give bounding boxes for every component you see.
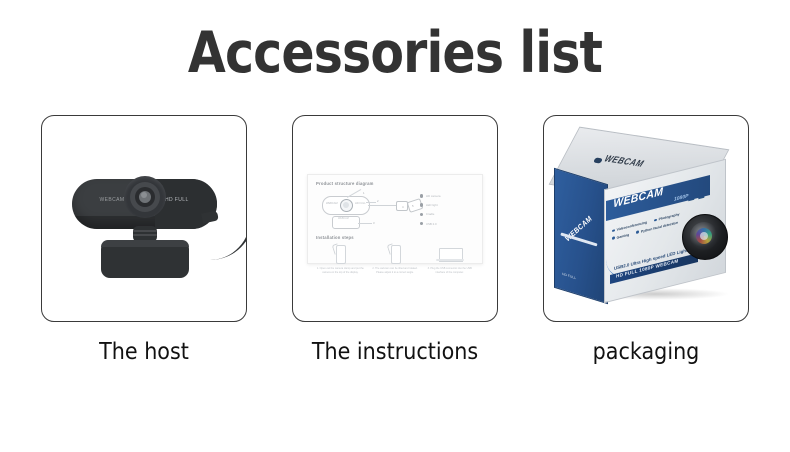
callout-number: 3: [373, 221, 375, 225]
legend-label: USB 2.0: [426, 222, 437, 226]
caption-packaging: packaging: [553, 336, 738, 368]
step-caption: 3. Plug the USB connector into the USB i…: [425, 267, 474, 274]
diagram-label-base: WEBCAM: [338, 217, 349, 220]
callout-leader: [366, 202, 376, 203]
webcam-hinge-rib: [133, 234, 157, 236]
instruction-sheet: Product structure diagram WEBCAM HD FULL…: [307, 174, 483, 264]
webcam-usb-cable: [210, 216, 247, 260]
bullet-icon: [420, 203, 423, 206]
legend-label: LED light: [426, 203, 438, 207]
step-caption: 1. Open out the camera clamp and put the…: [316, 267, 365, 274]
card-packaging[interactable]: WEBCAM WEBCAM HD FULL WEBCAM 1080P Video…: [543, 115, 749, 322]
webcam-lens-highlight: [141, 192, 147, 198]
caption-instructions: The instructions: [302, 336, 487, 368]
webcam-base-top: [101, 240, 189, 247]
step-item: 3. Plug the USB connector into the USB i…: [425, 243, 474, 274]
legend-item: Cradle: [420, 212, 486, 216]
installation-steps: 1. Open out the camera clamp and put the…: [316, 243, 474, 274]
diagram-section-title: Product structure diagram: [316, 181, 474, 186]
callout-number: 2: [377, 199, 379, 203]
legend-item: LED light: [420, 203, 486, 207]
callout-number: 1: [363, 191, 365, 195]
diagram-cable: [368, 205, 398, 206]
steps-section-title: Installation steps: [316, 235, 474, 240]
step-caption: 2. The webcam can be tilted and rotated.…: [371, 267, 420, 274]
callout-number: 5: [412, 204, 414, 208]
diagram-legend: HD camera LED light Cradle USB 2.0: [420, 194, 486, 231]
legend-label: Cradle: [426, 212, 435, 216]
legend-item: HD camera: [420, 194, 486, 198]
page-title: Accessories list: [55, 18, 734, 88]
webcam-illustration: WEBCAM HD FULL: [42, 116, 246, 321]
cards-row: WEBCAM HD FULL Product structure diag: [41, 115, 749, 323]
callout-number: 4: [402, 205, 404, 209]
accessories-list-page: Accessories list WEBCAM HD FULL: [0, 0, 790, 452]
bullet-icon: [654, 219, 657, 222]
laptop-base-icon: [436, 259, 464, 261]
diagram-label-left: WEBCAM: [326, 202, 338, 205]
legend-label: HD camera: [426, 194, 441, 198]
package-box-illustration: WEBCAM WEBCAM HD FULL WEBCAM 1080P Video…: [544, 116, 748, 321]
clip-icon: [316, 243, 365, 265]
bullet-icon: [420, 194, 423, 197]
diagram-camera-lens-inner: [343, 202, 349, 208]
callout-leader: [358, 223, 372, 224]
webcam-hinge-rib: [133, 230, 157, 232]
bullet-icon: [420, 222, 423, 225]
webcam-hd-label: HD FULL: [165, 197, 209, 203]
card-instructions[interactable]: Product structure diagram WEBCAM HD FULL…: [292, 115, 498, 322]
structure-diagram: WEBCAM HD FULL WEBCAM 1 2 3 4 5: [316, 190, 474, 230]
laptop-icon: [425, 243, 474, 265]
bullet-icon: [420, 213, 423, 216]
box-lens-highlight: [700, 232, 708, 240]
step-item: 2. The webcam can be tilted and rotated.…: [371, 243, 420, 274]
rotate-icon: [371, 243, 420, 265]
card-host[interactable]: WEBCAM HD FULL: [41, 115, 247, 322]
bullet-icon: [612, 229, 615, 232]
legend-item: USB 2.0: [420, 222, 486, 226]
caption-host: The host: [51, 336, 236, 368]
captions-row: The host The instructions packaging: [41, 336, 749, 370]
diagram-label-right: HD FULL: [355, 202, 366, 205]
step-item: 1. Open out the camera clamp and put the…: [316, 243, 365, 274]
